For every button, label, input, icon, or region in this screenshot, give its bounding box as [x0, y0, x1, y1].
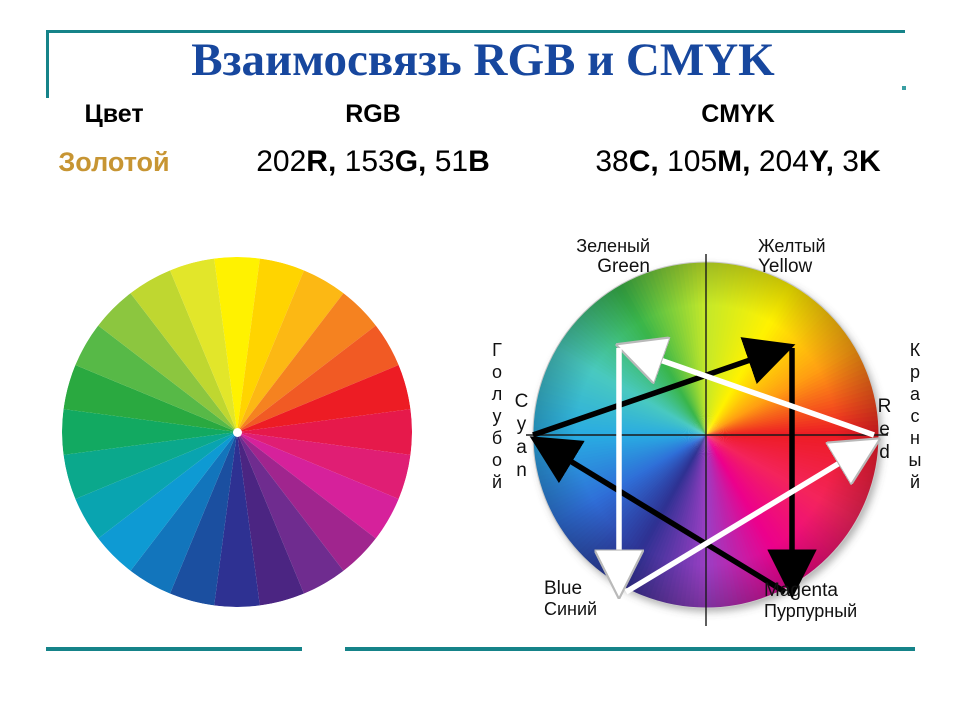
label-cyan-en: Cyan	[512, 391, 531, 483]
column-header-cmyk: CMYK	[538, 100, 938, 129]
rgb-g-number: 153	[345, 145, 395, 178]
frame-left-rule	[46, 30, 49, 98]
frame-accent-dot	[902, 86, 906, 90]
label-blue: Blue Синий	[544, 578, 694, 619]
rgb-sep-2: ,	[418, 145, 435, 178]
rgb-b-number: 51	[435, 145, 468, 178]
cmyk-m-number: 105	[667, 145, 717, 178]
cell-rgb-value: 202R, 153G, 51B	[208, 145, 538, 179]
cell-color-name: Золотой	[20, 147, 208, 178]
label-yellow-ru: Желтый	[758, 236, 908, 256]
label-yellow: Желтый Yellow	[758, 236, 908, 277]
frame-top-rule	[46, 30, 905, 33]
table-row: Золотой 202R, 153G, 51B 38C, 105M, 204Y,…	[20, 145, 940, 179]
cmyk-y-letter: Y	[809, 145, 826, 178]
label-blue-ru: Синий	[544, 599, 694, 619]
label-blue-en: Blue	[544, 578, 694, 599]
rgb-b-letter: B	[468, 145, 490, 178]
rgb-g-letter: G	[395, 145, 418, 178]
color-conversion-table: Цвет RGB CMYK Золотой 202R, 153G, 51B 38…	[20, 100, 940, 179]
label-magenta-en: Magenta	[764, 580, 954, 601]
rgb-r-number: 202	[256, 145, 306, 178]
column-header-color: Цвет	[20, 100, 208, 129]
cmyk-c-letter: C	[629, 145, 651, 178]
label-cyan-ru: Голубой	[488, 340, 506, 494]
page-title: Взаимосвязь RGB и CMYK	[58, 36, 908, 85]
rgb-sep-1: ,	[328, 145, 345, 178]
label-yellow-en: Yellow	[758, 256, 908, 277]
label-green-en: Green	[500, 256, 650, 277]
cmyk-y-number: 204	[759, 145, 809, 178]
rgb-r-letter: R	[306, 145, 328, 178]
rgb-cmy-wheel-diagram: Зеленый Green Желтый Yellow Голубой Cyan…	[486, 236, 956, 646]
color-wheel-hub	[233, 428, 242, 437]
label-green: Зеленый Green	[500, 236, 650, 277]
cmyk-m-letter: M	[717, 145, 742, 178]
cmyk-k-letter: K	[859, 145, 881, 178]
cell-cmyk-value: 38C, 105M, 204Y, 3K	[538, 145, 938, 179]
label-magenta-ru: Пурпурный	[764, 601, 954, 621]
label-red-en: Red	[875, 396, 894, 465]
cmyk-sep-2: ,	[742, 145, 759, 178]
label-red-ru: Красный	[906, 340, 924, 494]
footer-rule-left	[46, 647, 302, 651]
label-magenta: Magenta Пурпурный	[764, 580, 954, 621]
cmyk-sep-3: ,	[826, 145, 843, 178]
footer-rule-right	[345, 647, 915, 651]
label-green-ru: Зеленый	[500, 236, 650, 256]
cmyk-c-number: 38	[595, 145, 628, 178]
cmyk-k-number: 3	[842, 145, 859, 178]
column-header-rgb: RGB	[208, 100, 538, 129]
color-wheel-24-segments	[62, 257, 412, 607]
cmyk-sep-1: ,	[650, 145, 667, 178]
table-header-row: Цвет RGB CMYK	[20, 100, 940, 129]
